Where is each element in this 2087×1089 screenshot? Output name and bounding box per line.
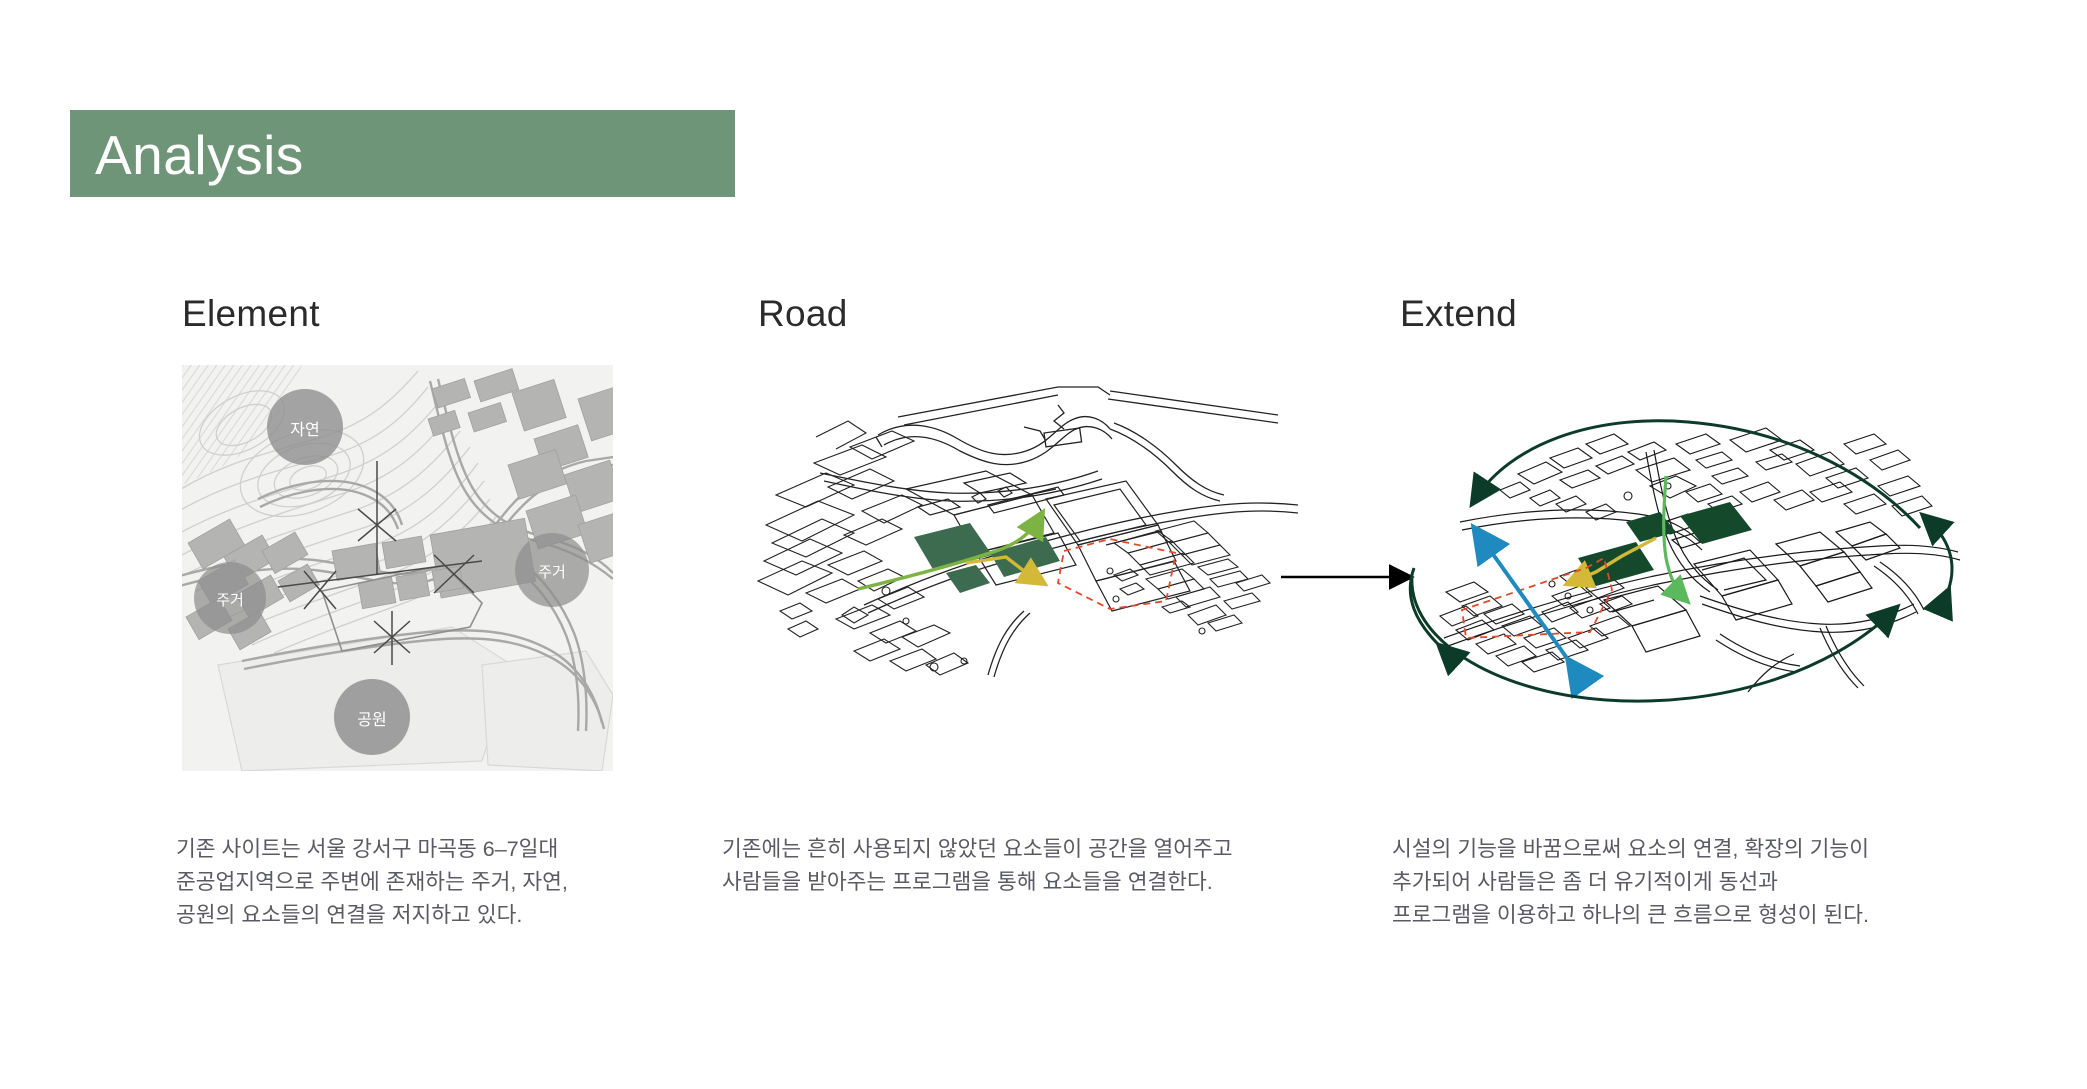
caption-element: 기존 사이트는 서울 강서구 마곡동 6–7일대 준공업지역으로 주변에 존재하… — [176, 833, 646, 932]
svg-text:주거: 주거 — [216, 591, 244, 609]
flow-loop-bottom — [1412, 576, 1892, 701]
column-heading-extend: Extend — [1400, 293, 1517, 335]
page-title: Analysis — [95, 118, 304, 193]
caption-extend: 시설의 기능을 바꿈으로써 요소의 연결, 확장의 기능이 추가되어 사람들은 … — [1392, 833, 1992, 932]
figure-road-map — [758, 375, 1298, 695]
figure-extend-map — [1400, 400, 1960, 720]
column-heading-road: Road — [758, 293, 848, 335]
svg-text:공원: 공원 — [357, 710, 386, 729]
road-axonometric-svg — [758, 375, 1298, 695]
extend-axonometric-svg — [1400, 400, 1960, 720]
figure-element-site-map: 자연 주거 주거 공원 — [182, 365, 613, 771]
caption-road: 기존에는 흔히 사용되지 않았던 요소들이 공간을 열어주고 사람들을 받아주는… — [722, 833, 1342, 899]
slide-analysis: Analysis Element Road Extend — [0, 0, 2087, 1089]
column-heading-element: Element — [182, 293, 320, 335]
flow-loop-right — [1928, 520, 1952, 596]
svg-text:주거: 주거 — [538, 563, 566, 581]
svg-text:자연: 자연 — [290, 420, 319, 439]
site-context-map-svg: 자연 주거 주거 공원 — [182, 365, 613, 771]
